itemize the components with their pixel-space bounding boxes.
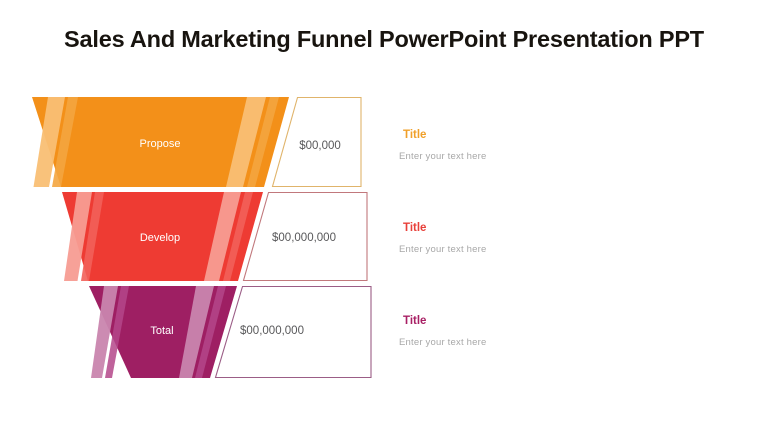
funnel-stage-label-develop: Develop xyxy=(140,232,180,244)
funnel-stage-label-propose: Propose xyxy=(140,138,181,150)
legend-body-propose: Enter your text here xyxy=(399,151,486,163)
funnel-stage-total[interactable]: Total xyxy=(89,286,237,378)
legend-block-total[interactable]: Title Enter your text here xyxy=(399,314,486,349)
slide-canvas: Sales And Marketing Funnel PowerPoint Pr… xyxy=(0,0,768,432)
legend-title-propose: Title xyxy=(403,128,486,142)
legend-block-develop[interactable]: Title Enter your text here xyxy=(399,221,486,256)
funnel-value-box-propose[interactable]: $00,000 xyxy=(273,98,362,187)
legend-title-develop: Title xyxy=(403,221,486,235)
funnel-value-text-propose: $00,000 xyxy=(299,140,341,152)
legend-body-total: Enter your text here xyxy=(399,337,486,349)
funnel-value-box-develop[interactable]: $00,000,000 xyxy=(244,193,368,281)
legend-title-total: Title xyxy=(403,314,486,328)
legend-block-propose[interactable]: Title Enter your text here xyxy=(399,128,486,163)
funnel-value-box-total[interactable]: $00,000,000 xyxy=(216,287,372,378)
funnel-stage-develop[interactable]: Develop xyxy=(62,192,263,281)
funnel-stage-propose[interactable]: Propose xyxy=(32,97,289,187)
funnel-value-text-total: $00,000,000 xyxy=(240,325,304,337)
legend-body-develop: Enter your text here xyxy=(399,244,486,256)
funnel-value-text-develop: $00,000,000 xyxy=(272,232,336,244)
funnel-stage-label-total: Total xyxy=(150,325,173,337)
funnel-chart: Propose $00,000 Develop $00,000,000 xyxy=(0,0,768,432)
